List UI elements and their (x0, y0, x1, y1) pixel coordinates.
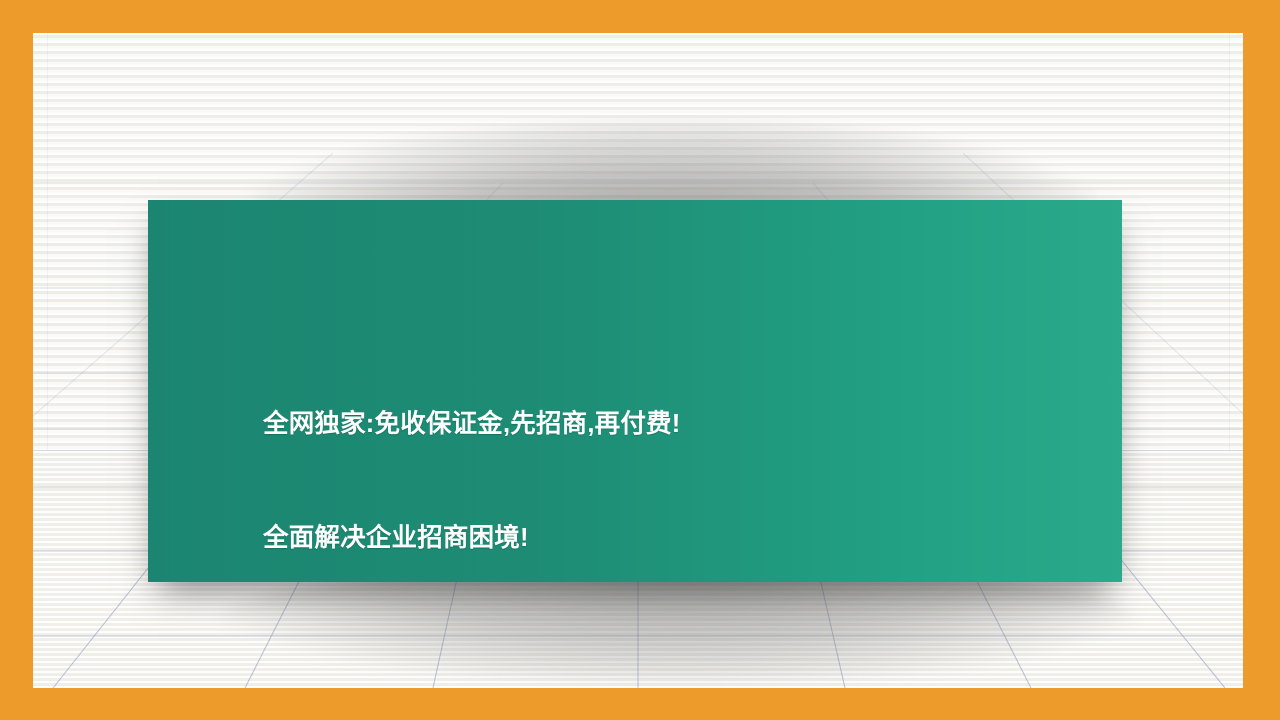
text-line-1: 全网独家:免收保证金,先招商,再付费! (263, 405, 1112, 443)
wall-seam-left (47, 33, 48, 451)
paragraph-1: 全网独家:免收保证金,先招商,再付费! 全面解决企业招商困境! (263, 329, 1112, 633)
wall-seam-right (1229, 33, 1230, 451)
card-text-block: 全网独家:免收保证金,先招商,再付费! 全面解决企业招商困境! 合作即签订保障协… (263, 215, 1112, 720)
text-line-2: 全面解决企业招商困境! (263, 519, 1112, 557)
green-content-card: 全网独家:免收保证金,先招商,再付费! 全面解决企业招商困境! 合作即签订保障协… (148, 200, 1122, 582)
slide-canvas: 全网独家:免收保证金,先招商,再付费! 全面解决企业招商困境! 合作即签订保障协… (0, 0, 1280, 720)
